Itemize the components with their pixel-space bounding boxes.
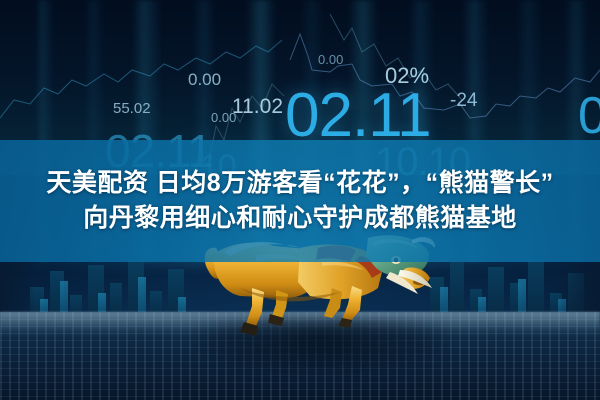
ticker-number: -24 xyxy=(450,90,477,112)
ticker-number: 11.02 xyxy=(232,95,283,119)
news-thumbnail-image: 55.02 0.00 11.02 0.00 0.00 02% -24 02.11… xyxy=(0,0,600,400)
ticker-number-large: 0 xyxy=(578,86,600,146)
ticker-number: 0.00 xyxy=(318,52,343,67)
ticker-number: 0.00 xyxy=(188,70,221,90)
ticker-number: 0.00 xyxy=(211,110,236,125)
title-banner: 天美配资 日均8万游客看“花花”，“熊猫警长” 向丹黎用细心和耐心守护成都熊猫基… xyxy=(0,140,600,262)
ticker-number: 55.02 xyxy=(113,100,151,117)
title-line-2: 向丹黎用细心和耐心守护成都熊猫基地 xyxy=(83,202,517,236)
title-line-1: 天美配资 日均8万游客看“花花”，“熊猫警长” xyxy=(46,167,553,201)
